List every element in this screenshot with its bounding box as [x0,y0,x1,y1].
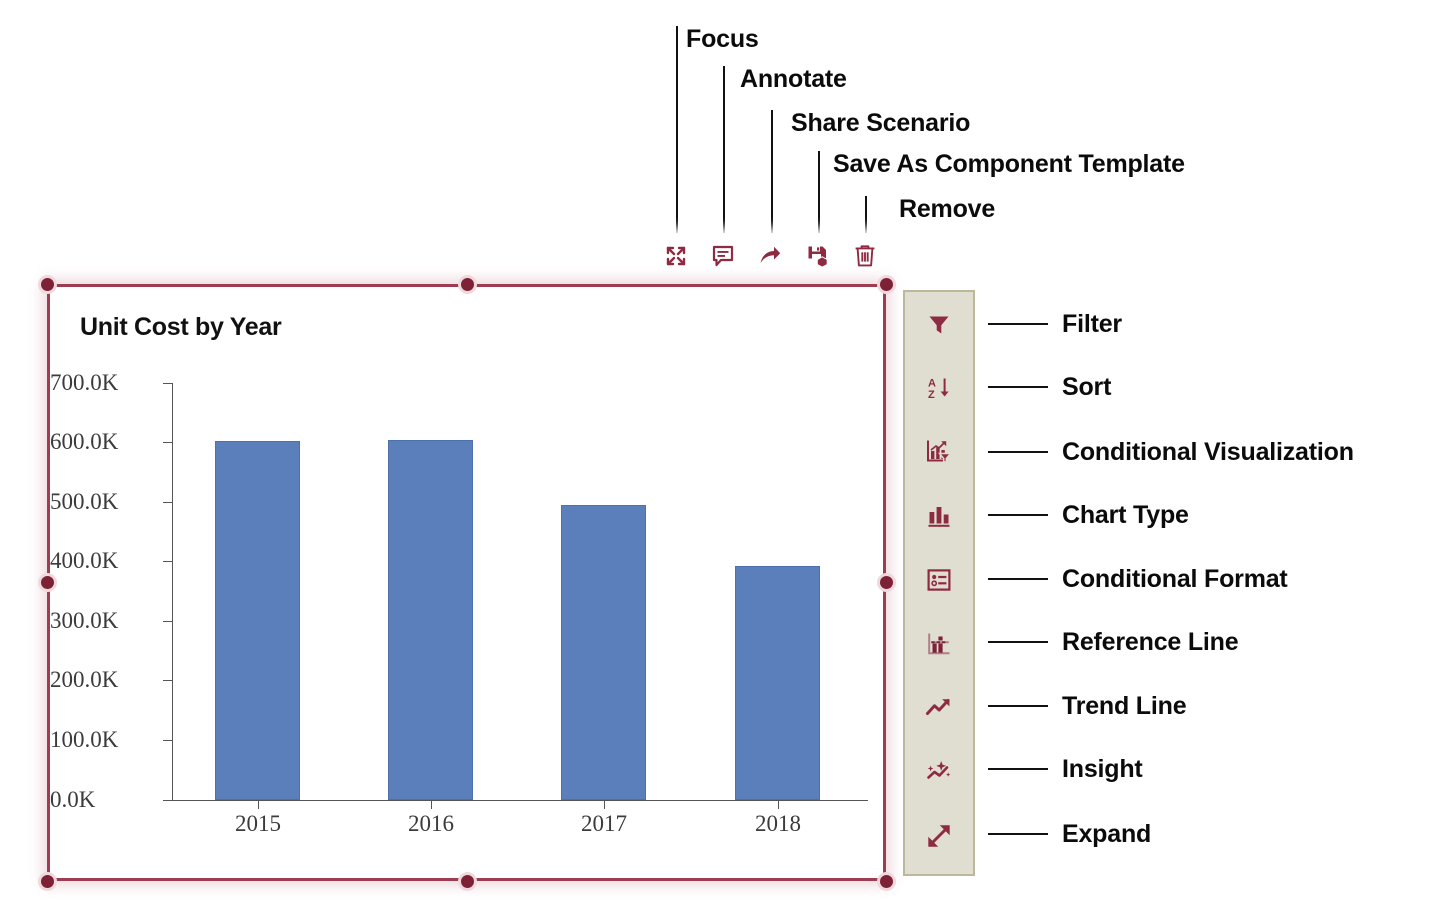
leader-line-conditional-visualization [988,451,1048,453]
insight-sparkle-icon [925,758,953,786]
sort-button[interactable]: A Z [918,367,960,409]
callout-label-share-scenario: Share Scenario [791,109,970,138]
y-tick-label: 0.0K [50,787,158,813]
y-tick-label: 700.0K [50,370,158,396]
funnel-icon [926,312,952,338]
callout-label-save-as-component-template: Save As Component Template [833,150,1185,179]
y-tick-mark [163,383,172,384]
y-tick-label: 600.0K [50,429,158,455]
bar-2016[interactable] [388,440,473,800]
leader-line-remove [865,196,867,238]
save-as-component-template-button[interactable] [795,233,841,279]
callout-label-focus: Focus [686,25,759,54]
callout-label-conditional-visualization: Conditional Visualization [1062,438,1354,467]
remove-button[interactable] [842,233,888,279]
y-tick-label: 400.0K [50,548,158,574]
leader-line-insight [988,768,1048,770]
leader-line-reference-line [988,641,1048,643]
y-axis-line [172,383,173,800]
y-tick-mark [163,442,172,443]
leader-line-share-scenario [771,110,773,238]
y-tick-mark [163,502,172,503]
trend-line-icon [925,694,953,722]
resize-handle-middle-right[interactable] [877,573,896,592]
x-tick-mark [778,800,779,809]
x-axis-line [172,800,868,801]
x-tick-label: 2016 [408,811,454,837]
leader-line-focus [676,26,678,238]
callout-label-chart-type: Chart Type [1062,501,1189,530]
y-tick-label: 300.0K [50,608,158,634]
x-tick-mark [258,800,259,809]
comment-icon [711,244,735,268]
resize-handle-top-left[interactable] [38,275,57,294]
annotate-button[interactable] [700,233,746,279]
callout-label-remove: Remove [899,195,995,224]
callout-label-sort: Sort [1062,373,1111,402]
expand-diagonal-icon [925,822,953,850]
focus-expand-icon [664,244,688,268]
svg-text:A: A [928,378,936,390]
x-tick-label: 2018 [755,811,801,837]
conditional-format-button[interactable] [918,559,960,601]
y-tick-label: 500.0K [50,489,158,515]
y-tick-mark [163,740,172,741]
y-tick-mark [163,800,172,801]
leader-line-annotate [723,66,725,238]
share-arrow-icon [758,244,782,268]
reference-line-icon [926,631,952,657]
y-tick-mark [163,680,172,681]
callout-label-annotate: Annotate [740,65,847,94]
callout-label-filter: Filter [1062,310,1122,339]
x-tick-mark [604,800,605,809]
y-tick-mark [163,621,172,622]
bar-2017[interactable] [561,505,646,800]
share-scenario-button[interactable] [747,233,793,279]
trend-line-button[interactable] [918,687,960,729]
x-tick-mark [431,800,432,809]
focus-button[interactable] [653,233,699,279]
filter-button[interactable] [918,304,960,346]
chart-widget[interactable]: Unit Cost by Year 700.0K 600.0K 500.0K 4… [47,284,886,881]
callout-label-trend-line: Trend Line [1062,692,1186,721]
y-tick-mark [163,561,172,562]
leader-line-expand [988,833,1048,835]
save-component-icon [806,244,830,268]
leader-line-trend-line [988,705,1048,707]
leader-line-save-as-component-template [818,151,820,238]
svg-text:Z: Z [928,389,935,401]
conditional-visualization-button[interactable] [918,431,960,473]
bar-2018[interactable] [735,566,820,800]
x-tick-label: 2015 [235,811,281,837]
resize-handle-bottom-right[interactable] [877,872,896,891]
conditional-format-icon [926,567,952,593]
chart-options-toolbar: A Z [903,290,975,876]
callout-label-insight: Insight [1062,755,1143,784]
trash-icon [853,244,877,268]
insight-button[interactable] [918,751,960,793]
y-tick-label: 200.0K [50,667,158,693]
bar-chart-icon [926,503,952,529]
leader-line-filter [988,323,1048,325]
resize-handle-middle-left[interactable] [38,573,57,592]
leader-line-conditional-format [988,578,1048,580]
resize-handle-top-right[interactable] [877,275,896,294]
sort-az-icon: A Z [926,375,952,401]
callout-label-conditional-format: Conditional Format [1062,565,1288,594]
callout-label-reference-line: Reference Line [1062,628,1238,657]
leader-line-chart-type [988,514,1048,516]
y-tick-label: 100.0K [50,727,158,753]
resize-handle-bottom-left[interactable] [38,872,57,891]
resize-handle-top-center[interactable] [458,275,477,294]
x-tick-label: 2017 [581,811,627,837]
conditional-visualization-icon [925,438,953,466]
bar-chart-plot: 700.0K 600.0K 500.0K 400.0K 300.0K 200.0… [50,287,883,878]
chart-type-button[interactable] [918,495,960,537]
expand-button[interactable] [918,815,960,857]
reference-line-button[interactable] [918,623,960,665]
leader-line-sort [988,386,1048,388]
resize-handle-bottom-center[interactable] [458,872,477,891]
callout-label-expand: Expand [1062,820,1151,849]
bar-2015[interactable] [215,441,300,800]
